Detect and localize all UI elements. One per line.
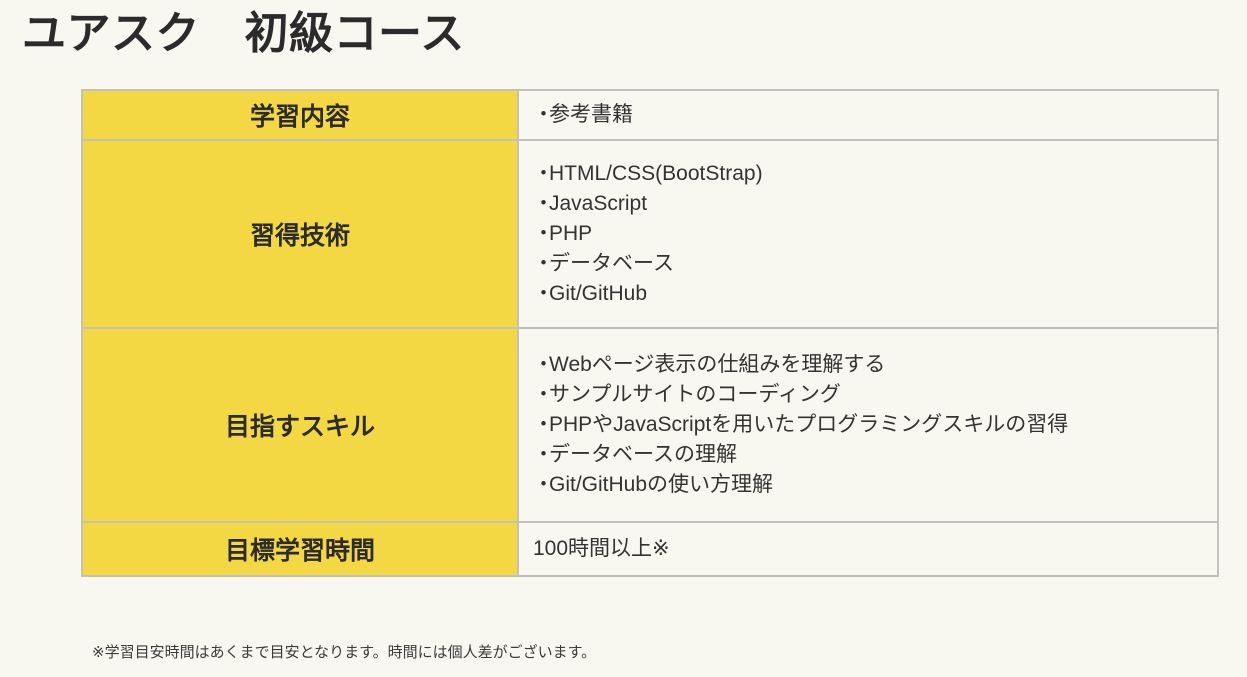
table-row: 学習内容 ・参考書籍 xyxy=(82,90,1218,140)
bullet-dot-icon: ・ xyxy=(533,440,549,470)
row-value-acquired-skills: ・HTML/CSS(BootStrap) ・JavaScript ・PHP ・デ… xyxy=(518,140,1218,328)
list-item: ・Git/GitHubの使い方理解 xyxy=(533,470,1217,500)
bullet-dot-icon: ・ xyxy=(533,249,549,279)
list-item: ・参考書籍 xyxy=(533,100,1217,130)
list-item: ・サンプルサイトのコーディング xyxy=(533,380,1217,410)
bullet-dot-icon: ・ xyxy=(533,350,549,380)
list-item-label: PHPやJavaScriptを用いたプログラミングスキルの習得 xyxy=(549,413,1068,436)
bullet-list: ・HTML/CSS(BootStrap) ・JavaScript ・PHP ・デ… xyxy=(533,159,1217,308)
list-item-label: JavaScript xyxy=(549,192,647,215)
list-item: ・PHPやJavaScriptを用いたプログラミングスキルの習得 xyxy=(533,410,1217,440)
list-item: ・データベース xyxy=(533,249,1217,279)
bullet-dot-icon: ・ xyxy=(533,189,549,219)
row-label-target-study-hours: 目標学習時間 xyxy=(82,522,518,576)
list-item-label: サンプルサイトのコーディング xyxy=(549,383,841,406)
row-value-target-skills: ・Webページ表示の仕組みを理解する ・サンプルサイトのコーディング ・PHPや… xyxy=(518,328,1218,522)
list-item: ・データベースの理解 xyxy=(533,440,1217,470)
list-item-label: Webページ表示の仕組みを理解する xyxy=(549,353,885,376)
bullet-dot-icon: ・ xyxy=(533,100,549,130)
list-item-label: 参考書籍 xyxy=(549,103,633,126)
bullet-dot-icon: ・ xyxy=(533,219,549,249)
list-item-label: データベース xyxy=(549,252,674,275)
row-label-learning-content: 学習内容 xyxy=(82,90,518,140)
course-overview-table: 学習内容 ・参考書籍 習得技術 ・HTML/CSS(BootStrap) ・Ja… xyxy=(81,89,1219,577)
list-item: ・HTML/CSS(BootStrap) xyxy=(533,159,1217,189)
row-label-target-skills: 目指すスキル xyxy=(82,328,518,522)
bullet-dot-icon: ・ xyxy=(533,470,549,500)
target-study-hours-value: 100時間以上※ xyxy=(533,534,1217,564)
list-item-label: HTML/CSS(BootStrap) xyxy=(549,162,763,185)
row-value-learning-content: ・参考書籍 xyxy=(518,90,1218,140)
list-item-label: Git/GitHubの使い方理解 xyxy=(549,473,773,496)
list-item: ・JavaScript xyxy=(533,189,1217,219)
list-item: ・Git/GitHub xyxy=(533,279,1217,309)
page-title: ユアスク 初級コース xyxy=(22,8,465,61)
list-item-label: PHP xyxy=(549,222,592,245)
bullet-dot-icon: ・ xyxy=(533,159,549,189)
table-row: 目指すスキル ・Webページ表示の仕組みを理解する ・サンプルサイトのコーディン… xyxy=(82,328,1218,522)
footnote-text: ※学習目安時間はあくまで目安となります。時間には個人差がございます。 xyxy=(92,641,596,662)
bullet-list: ・参考書籍 xyxy=(533,100,1217,130)
bullet-dot-icon: ・ xyxy=(533,410,549,440)
row-value-target-study-hours: 100時間以上※ xyxy=(518,522,1218,576)
list-item: ・Webページ表示の仕組みを理解する xyxy=(533,350,1217,380)
list-item: ・PHP xyxy=(533,219,1217,249)
row-label-acquired-skills: 習得技術 xyxy=(82,140,518,328)
bullet-dot-icon: ・ xyxy=(533,279,549,309)
table-row: 目標学習時間 100時間以上※ xyxy=(82,522,1218,576)
bullet-list: ・Webページ表示の仕組みを理解する ・サンプルサイトのコーディング ・PHPや… xyxy=(533,350,1217,499)
table-body: 学習内容 ・参考書籍 習得技術 ・HTML/CSS(BootStrap) ・Ja… xyxy=(82,90,1218,576)
list-item-label: Git/GitHub xyxy=(549,282,647,305)
list-item-label: データベースの理解 xyxy=(549,443,737,466)
bullet-dot-icon: ・ xyxy=(533,380,549,410)
table-row: 習得技術 ・HTML/CSS(BootStrap) ・JavaScript ・P… xyxy=(82,140,1218,328)
